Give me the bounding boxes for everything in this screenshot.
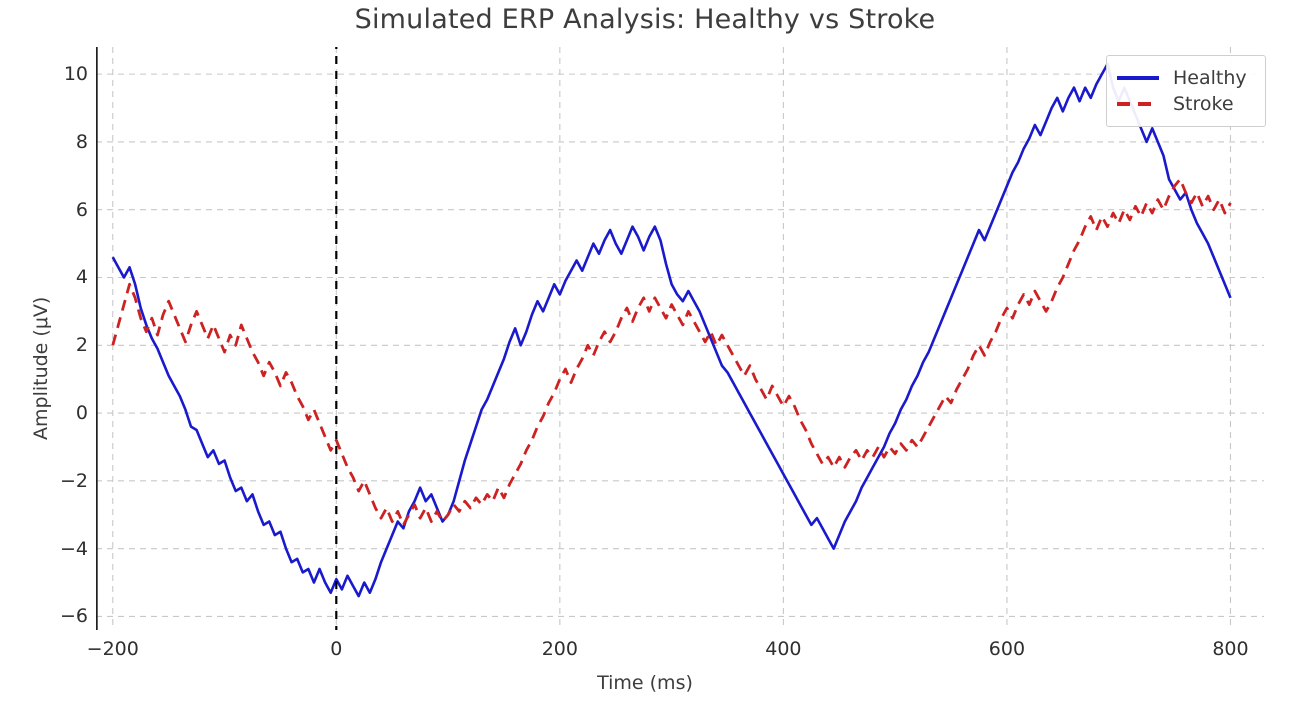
x-tick-label: 200 [542, 638, 578, 660]
x-tick-label: −200 [87, 638, 139, 660]
x-axis-label: Time (ms) [0, 672, 1290, 694]
gridlines [96, 47, 1264, 630]
y-tick-label: 2 [76, 334, 88, 356]
y-tick-label: −6 [60, 605, 88, 627]
y-tick-label: −2 [60, 470, 88, 492]
x-tick-label: 400 [765, 638, 801, 660]
legend-label-stroke: Stroke [1173, 93, 1234, 115]
legend-swatch-healthy [1117, 76, 1159, 80]
axis-ticks [96, 74, 1230, 630]
series-line-stroke [113, 179, 1231, 525]
y-tick-label: 0 [76, 402, 88, 424]
y-tick-label: −4 [60, 538, 88, 560]
y-tick-label: 10 [64, 63, 88, 85]
legend-item-healthy[interactable]: Healthy [1117, 65, 1255, 91]
plot-area [96, 47, 1264, 630]
erp-chart-figure: Simulated ERP Analysis: Healthy vs Strok… [0, 0, 1290, 703]
y-tick-label: 4 [76, 266, 88, 288]
legend-label-healthy: Healthy [1173, 67, 1247, 89]
axis-spines [96, 47, 1264, 630]
chart-legend[interactable]: Healthy Stroke [1106, 55, 1266, 127]
chart-title: Simulated ERP Analysis: Healthy vs Strok… [0, 4, 1290, 35]
legend-swatch-stroke [1117, 102, 1159, 106]
series-layer [113, 64, 1231, 596]
y-tick-label: 6 [76, 199, 88, 221]
y-tick-label: 8 [76, 131, 88, 153]
x-tick-label: 800 [1212, 638, 1248, 660]
x-tick-label: 0 [330, 638, 342, 660]
series-line-healthy [113, 64, 1231, 596]
x-tick-label: 600 [989, 638, 1025, 660]
legend-item-stroke[interactable]: Stroke [1117, 91, 1255, 117]
y-axis-label: Amplitude (μV) [30, 297, 52, 440]
plot-svg [96, 47, 1264, 630]
